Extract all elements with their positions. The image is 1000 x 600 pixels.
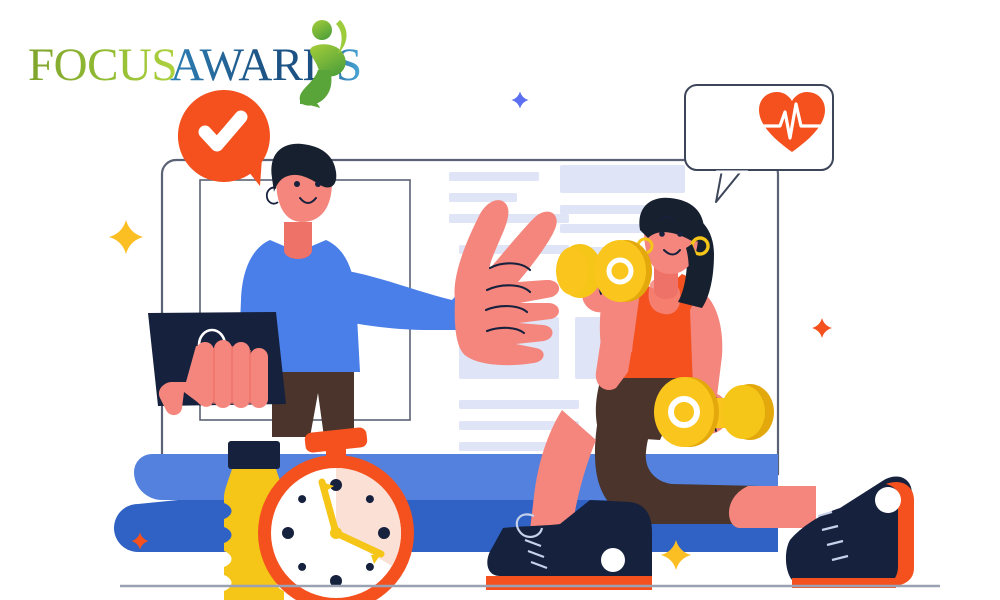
stopwatch-pivot <box>330 527 342 539</box>
stopwatch-hour-marker <box>366 563 374 571</box>
coach-eye-right <box>315 181 321 187</box>
logo-word-focus: FOCUS <box>28 39 177 91</box>
bottle-cap <box>228 441 280 469</box>
fitness-illustration: FOCUS AWARDS <box>0 0 1000 600</box>
stopwatch-hour-marker <box>282 527 294 539</box>
mark-head <box>312 20 332 40</box>
sneaker-left-logo <box>601 548 625 572</box>
finger-b <box>214 340 232 408</box>
coach-eye-left <box>294 181 300 187</box>
stopwatch-hour-marker <box>330 479 342 491</box>
stopwatch-hour-marker <box>298 563 306 571</box>
finger-a <box>196 342 214 406</box>
dumbbell-bottom-weight-left <box>654 377 714 447</box>
sneaker-left-sole <box>486 576 652 590</box>
illustration-stage: FOCUS AWARDS <box>0 0 1000 600</box>
stopwatch-hour-marker <box>366 495 374 503</box>
stopwatch-hour-marker <box>378 527 390 539</box>
athlete-rear-calf <box>729 486 816 528</box>
athlete-eye-left <box>659 231 665 237</box>
placeholder-bar <box>449 193 517 202</box>
stopwatch-hour-marker <box>298 495 306 503</box>
placeholder-bar <box>560 165 685 193</box>
finger-c <box>232 342 250 408</box>
placeholder-bar <box>449 172 539 181</box>
coach-neck <box>284 222 312 259</box>
sneaker-right-logo <box>875 487 901 513</box>
finger-d <box>250 348 268 408</box>
dumbbell-top-weight-right <box>594 240 646 302</box>
dumbbell-bottom-weight-right <box>721 385 765 439</box>
dumbbell-top <box>556 240 652 302</box>
dumbbell-top-plate-left <box>556 247 588 295</box>
placeholder-bar <box>459 442 554 451</box>
placeholder-bar <box>459 400 579 409</box>
athlete-eye-right <box>677 231 683 237</box>
